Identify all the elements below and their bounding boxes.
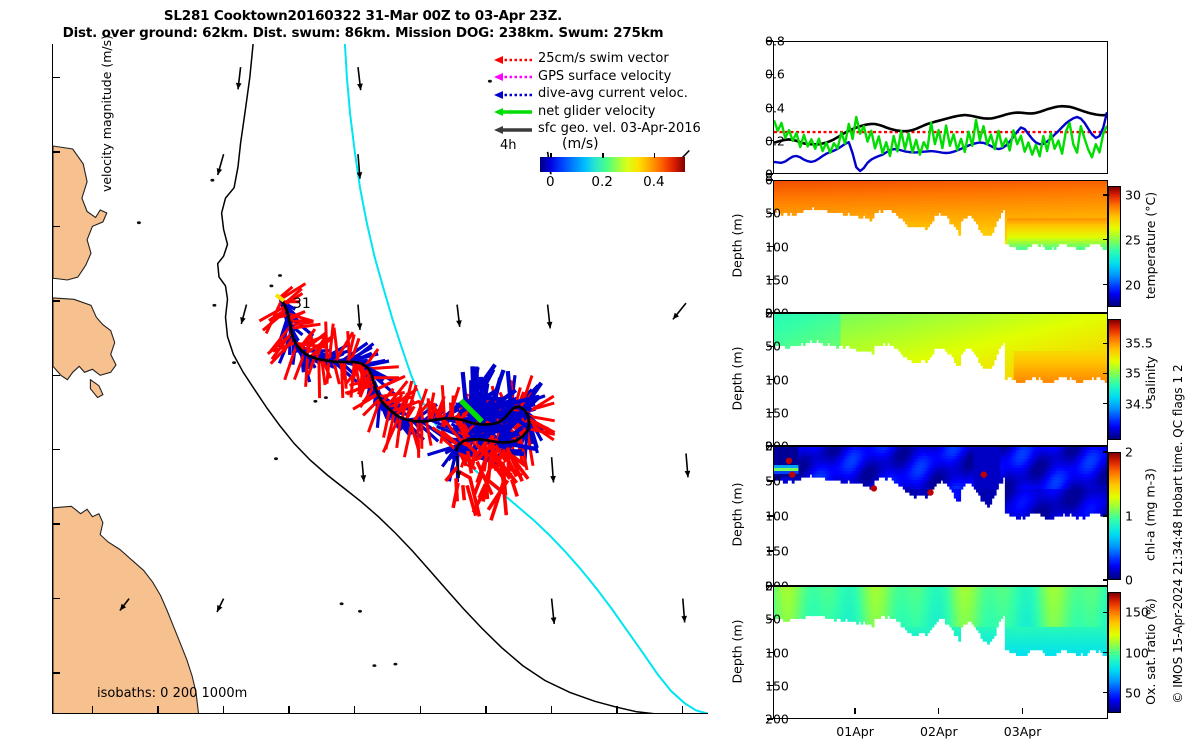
map-x-tickmark — [223, 706, 224, 713]
velocity-colorbar-tickmark — [550, 153, 551, 158]
legend-item-0: 25cm/s swim vector — [492, 50, 707, 68]
geo-vel-arrowhead-13 — [550, 476, 556, 483]
legend-item-3: net glider velocity — [492, 103, 707, 121]
velocity-colorbar-tickmark — [654, 153, 655, 158]
legend-arrow-icon — [492, 104, 534, 118]
swim-vector — [306, 357, 308, 387]
map-y-tickmark — [53, 375, 60, 376]
colorbar-tickmark — [1103, 284, 1108, 285]
reef-dot-10 — [393, 663, 397, 666]
swim-vector — [326, 322, 327, 361]
title-line-1: SL281 Cooktown20160322 31-Mar 00Z to 03-… — [0, 8, 726, 25]
profile-cell — [958, 232, 961, 235]
map-y-tickmark — [53, 598, 60, 599]
profile-cell — [958, 362, 961, 365]
depth-axis-label-temperature: Depth (m) — [730, 209, 745, 281]
profile-cell — [1105, 247, 1107, 250]
landmass-2 — [53, 506, 199, 713]
reef-dot-3 — [324, 396, 328, 399]
velocity-colorbar-tick-label: 0 — [546, 174, 555, 190]
glider-track-map[interactable]: 15.9-1616.116.216.316.416.516.616.7145.5… — [52, 44, 708, 714]
profile-cell — [992, 362, 995, 365]
legend-arrow-icon — [492, 52, 534, 66]
map-legend: 25cm/s swim vectorGPS surface velocitydi… — [492, 50, 707, 138]
reef-dot-1 — [212, 304, 216, 307]
colorbar-label-temperature: temperature (°C) — [1143, 179, 1158, 312]
time-scale-label: 4h — [500, 138, 517, 153]
profile-cell — [996, 351, 999, 354]
swim-vector — [290, 320, 308, 321]
reef-dot-13 — [137, 221, 141, 224]
reef-dot-4 — [274, 457, 278, 460]
profile-plot-temperature — [774, 181, 1107, 312]
map-vector-layer — [53, 44, 708, 713]
velocity-timeseries-panel[interactable] — [773, 41, 1108, 174]
swim-vector — [453, 396, 454, 419]
profile-cell — [932, 218, 935, 221]
reef-dot-7 — [340, 602, 344, 605]
map-y-tickmark — [53, 523, 60, 524]
depth-tickmark — [767, 279, 773, 280]
colorbar-unit-label: (m/s) — [562, 136, 599, 152]
swim-vector — [418, 422, 419, 458]
colorbar-tickmark — [1103, 194, 1108, 195]
velocity-colorbar-tickmark — [602, 153, 603, 158]
geo-vel-arrowhead-11 — [361, 475, 367, 482]
profile-cell — [872, 351, 875, 354]
velocity-colorbar-tick-label: 0.4 — [643, 174, 664, 190]
velocity-y-tickmark — [767, 40, 773, 41]
swim-vector — [486, 480, 487, 500]
map-x-tickmark — [616, 706, 617, 713]
colorbar-temperature — [1108, 186, 1121, 307]
legend-item-label: sfc geo. vel. 03-Apr-2016 — [538, 121, 701, 136]
map-y-tickmark — [53, 449, 60, 450]
reef-dot-6 — [313, 400, 317, 403]
swim-vector — [327, 361, 329, 384]
swim-vector — [442, 385, 444, 419]
legend-item-label: GPS surface velocity — [538, 69, 671, 84]
colorbar-tick-label-temperature: 20 — [1125, 277, 1141, 292]
legend-item-label: net glider velocity — [538, 104, 655, 119]
velocity-ylabel-wrap: velocity magnitude (m/s) — [0, 48, 140, 68]
dive-avg-vector — [495, 378, 500, 399]
geo-vel-arrowhead-18 — [681, 616, 687, 623]
map-x-tickmark — [92, 706, 93, 713]
profile-cell — [992, 229, 995, 232]
legend-item-label: 25cm/s swim vector — [538, 51, 669, 66]
swim-vector — [453, 483, 458, 508]
profile-panel-salinity[interactable] — [773, 313, 1108, 446]
swim-vector — [489, 452, 491, 479]
legend-arrow-icon — [492, 69, 534, 83]
colorbar-gradient — [540, 157, 685, 172]
profile-panel-temperature[interactable] — [773, 180, 1108, 313]
swim-vector — [319, 360, 320, 398]
reef-dot-2 — [269, 285, 273, 288]
velocity-vectors — [259, 284, 554, 521]
map-x-tickmark — [354, 706, 355, 713]
velocity-plot — [774, 42, 1107, 173]
profile-cell — [932, 351, 935, 354]
map-y-tickmark — [53, 151, 60, 152]
velocity-colorbar-tick-label: 0.2 — [591, 174, 612, 190]
geo-velocity-arrows — [120, 67, 690, 624]
swim-vector — [463, 485, 465, 500]
map-x-tickmark — [288, 706, 289, 713]
legend-entries: 25cm/s swim vectorGPS surface velocitydi… — [492, 50, 707, 138]
velocity-colorbar: 00.20.4 — [540, 157, 685, 172]
map-y-tickmark — [53, 300, 60, 301]
reef-dot-0 — [210, 179, 214, 182]
legend-arrow-icon — [492, 87, 534, 101]
map-y-tickmark — [53, 226, 60, 227]
profile-cell — [998, 215, 1001, 218]
profile-cell — [994, 357, 997, 360]
velocity-y-tickmark — [767, 74, 773, 75]
velocity-y-tickmark — [767, 140, 773, 141]
velocity-y-tickmark — [767, 107, 773, 108]
isobath-label: isobaths: 0 200 1000m — [97, 686, 247, 701]
depth-tickmark — [767, 213, 773, 214]
swim-vector — [428, 398, 429, 420]
track-day-label: 31 — [293, 296, 311, 312]
map-x-tickmark — [420, 706, 421, 713]
swim-vector — [348, 331, 350, 362]
reef-dot-5 — [278, 274, 282, 277]
map-x-tickmark — [485, 706, 486, 713]
island — [90, 380, 103, 398]
reef-dot-11 — [232, 361, 236, 364]
colorbar-tickmark — [1103, 239, 1108, 240]
map-y-tickmark — [53, 77, 60, 78]
legend-item-label: dive-avg current veloc. — [538, 86, 688, 101]
reef-dot-8 — [358, 610, 362, 613]
map-canvas — [53, 44, 708, 713]
swim-vector — [451, 403, 452, 420]
swim-vector — [344, 363, 346, 389]
swim-vector — [342, 361, 343, 398]
colorbar-tick-label-temperature: 25 — [1125, 232, 1141, 247]
map-y-tickmark — [53, 672, 60, 673]
geo-vel-arrowhead-7 — [357, 323, 363, 330]
profile-cell — [994, 224, 997, 227]
legend-item-1: GPS surface velocity — [492, 68, 707, 86]
map-x-tickmark — [551, 706, 552, 713]
map-x-tickmark — [682, 706, 683, 713]
legend-item-2: dive-avg current veloc. — [492, 85, 707, 103]
landmass-1 — [53, 298, 116, 380]
depth-tickmark — [767, 179, 773, 180]
legend-arrow-icon — [492, 122, 534, 136]
profile-cell — [872, 215, 875, 218]
depth-tickmark — [767, 246, 773, 247]
legend-item-4: sfc geo. vel. 03-Apr-2016 — [492, 120, 707, 138]
map-x-tickmark — [157, 706, 158, 713]
profile-plot-salinity — [774, 314, 1107, 445]
colorbar-tick-label-temperature: 30 — [1125, 187, 1141, 202]
velocity-ylabel: velocity magnitude (m/s) — [99, 35, 114, 192]
reef-dot-9 — [372, 664, 376, 667]
